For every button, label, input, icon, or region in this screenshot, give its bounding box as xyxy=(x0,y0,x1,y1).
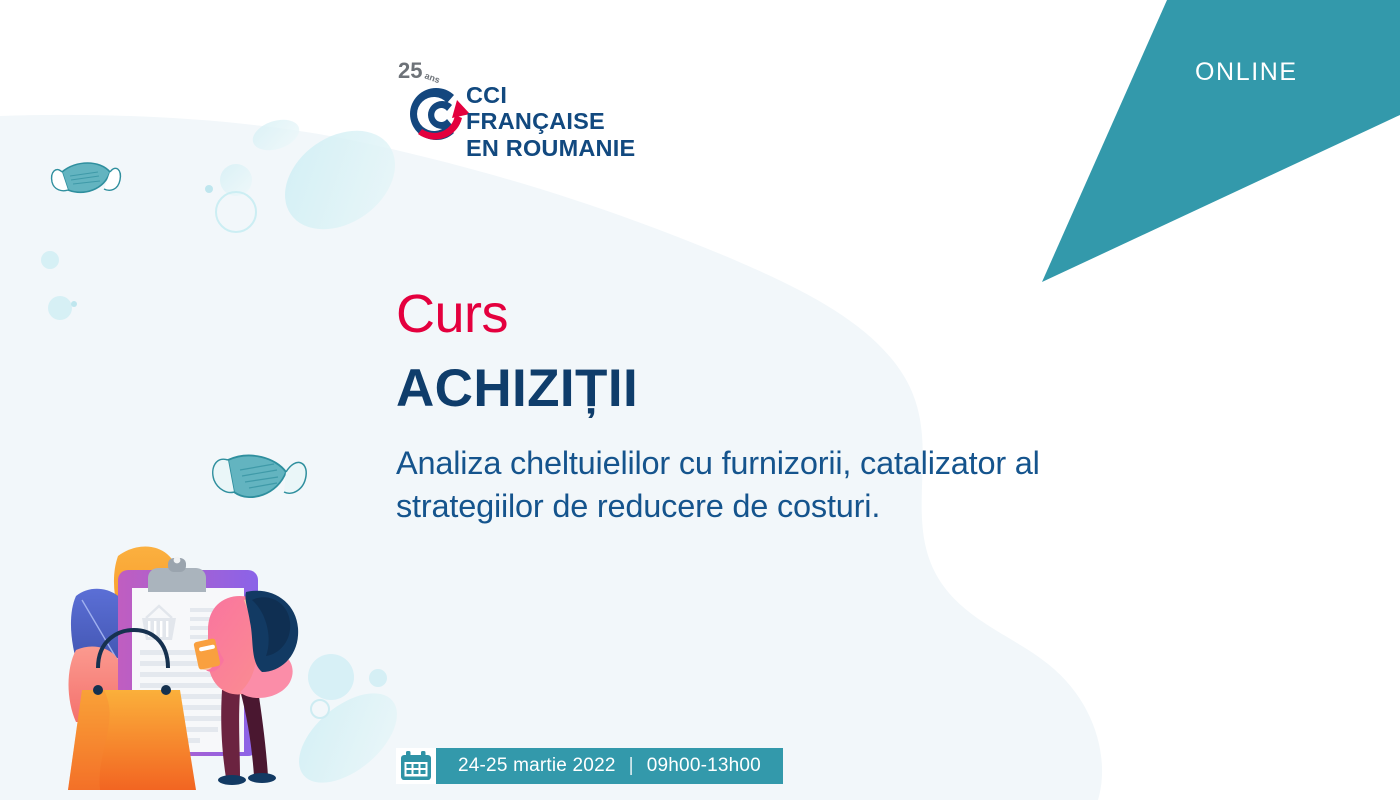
leaf-blue xyxy=(71,589,130,682)
date-time-separator: | xyxy=(616,755,647,777)
shopping-bag xyxy=(68,690,196,790)
event-kicker: Curs xyxy=(396,283,508,345)
online-badge-label: ONLINE xyxy=(1195,58,1298,87)
online-badge xyxy=(1030,0,1400,290)
clipboard-paper xyxy=(132,588,244,752)
svg-text:ans: ans xyxy=(423,70,441,85)
face-mask-icon-2 xyxy=(213,456,306,498)
cci-logo-text: CCI FRANÇAISE EN ROUMANIE xyxy=(466,82,636,161)
calendar-icon xyxy=(400,751,432,781)
calendar-icon-wrap xyxy=(396,748,436,784)
event-subtitle: Analiza cheltuielilor cu furnizorii, cat… xyxy=(396,442,1186,528)
phone xyxy=(193,638,220,670)
woman-hair xyxy=(245,591,298,672)
event-time: 09h00-13h00 xyxy=(647,755,761,777)
woman-shirt xyxy=(208,596,274,694)
face-mask-icon-1 xyxy=(52,163,121,192)
svg-text:25: 25 xyxy=(398,58,422,83)
cci-logo: 25 ans CCI FRANÇAISE EN ROUMANIE xyxy=(396,56,636,148)
poster-canvas: ONLINE 25 ans CCI FRANÇAISE EN ROUMANIE … xyxy=(0,0,1400,800)
leaf-pink xyxy=(69,646,123,722)
date-bar: 24-25 martie 2022 | 09h00-13h00 xyxy=(396,748,783,784)
event-title: ACHIZIȚII xyxy=(396,358,638,419)
clipboard-frame xyxy=(118,570,258,756)
leaf-orange xyxy=(114,546,178,648)
cci-logo-mark: 25 ans xyxy=(396,56,474,148)
event-subtitle-line2: strategiilor de reducere de costuri. xyxy=(396,488,880,524)
event-date: 24-25 martie 2022 xyxy=(458,755,616,777)
date-time-strip: 24-25 martie 2022 | 09h00-13h00 xyxy=(436,748,783,784)
event-subtitle-line1: Analiza cheltuielilor cu furnizorii, cat… xyxy=(396,445,1040,481)
cci-logo-line1: CCI FRANÇAISE xyxy=(466,82,636,135)
cci-logo-line2: EN ROUMANIE xyxy=(466,135,636,161)
